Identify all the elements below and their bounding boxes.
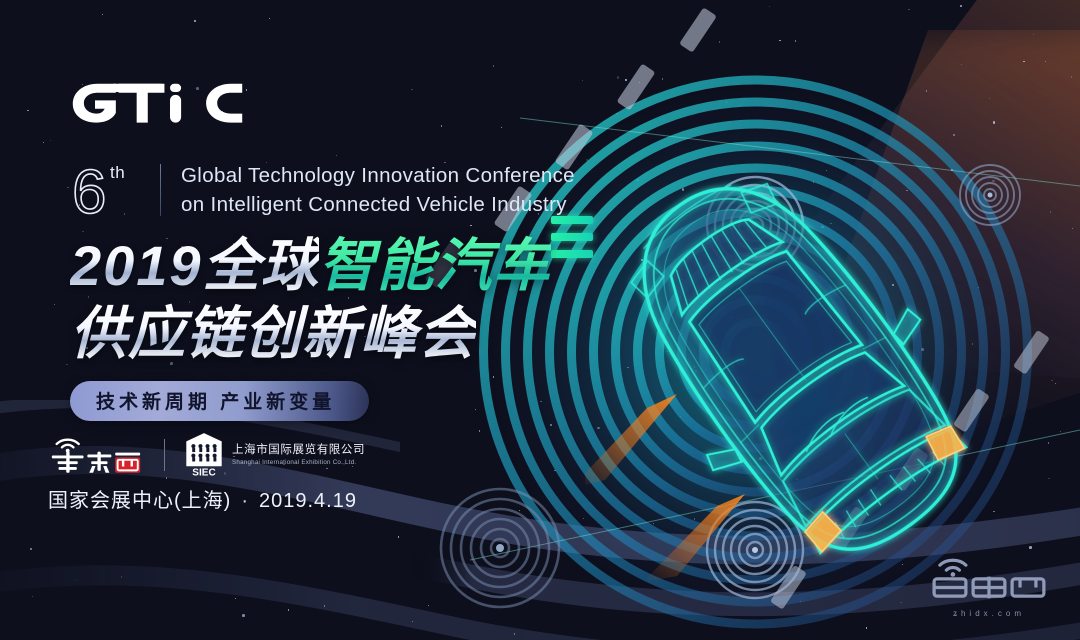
star-dot [30, 548, 31, 549]
star-dot [1051, 380, 1052, 381]
star-dot [992, 180, 995, 183]
star-dot [639, 82, 640, 83]
edition-number: 6 [72, 159, 106, 221]
star-dot [769, 6, 770, 7]
star-dot [658, 347, 659, 348]
star-dot [972, 343, 973, 344]
star-dot [951, 169, 952, 170]
warm-light-wedge-secondary [760, 30, 1080, 500]
star-dot [1048, 442, 1049, 443]
star-dot [550, 424, 551, 425]
star-dot [888, 330, 889, 331]
star-dot [428, 605, 429, 606]
star-dot [921, 348, 924, 351]
edition-badge: 6 th [70, 159, 124, 221]
english-title: Global Technology Innovation Conference … [181, 161, 575, 219]
partner-logos: SIEC 上海市国际展览有限公司 Shanghai International … [48, 432, 365, 478]
star-dot [989, 98, 990, 99]
warm-light-wedge [635, 0, 1080, 455]
star-dot [398, 536, 399, 537]
star-dot [698, 272, 699, 273]
star-dot [1060, 431, 1061, 432]
star-dot [758, 399, 759, 400]
headline-year: 2019 [70, 234, 203, 297]
venue-date-separator: · [241, 490, 249, 512]
star-dot [949, 471, 950, 472]
star-dot [1048, 478, 1049, 479]
star-dot [772, 531, 773, 532]
star-dot [768, 579, 769, 580]
star-dot [583, 518, 584, 519]
headline-line-2: 供应链创新峰会 [70, 303, 630, 365]
siec-mark-icon: SIEC [185, 432, 223, 478]
star-dot [759, 457, 762, 460]
star-dot [892, 284, 893, 285]
gtic-logo [70, 74, 278, 124]
star-dot [54, 304, 55, 305]
star-dot [978, 287, 979, 288]
star-dot [719, 41, 720, 42]
star-dot [789, 165, 790, 166]
edition-number-icon: 6 [70, 159, 114, 221]
star-dot [900, 602, 901, 603]
star-dot [953, 134, 954, 135]
star-dot [921, 477, 924, 480]
star-dot [66, 364, 67, 365]
star-dot [723, 205, 724, 206]
star-dot [926, 90, 927, 91]
star-dot [961, 64, 962, 65]
star-dot [1050, 211, 1051, 212]
star-dot [324, 605, 325, 606]
star-dot [1033, 34, 1034, 35]
headline-intelligent-vehicle: 智能汽车 [319, 234, 551, 298]
poster-content: 6 th Global Technology Innovation Confer… [70, 74, 630, 421]
edition-suffix: th [110, 163, 125, 183]
star-dot [67, 187, 68, 188]
star-dot [641, 259, 642, 260]
star-dot [682, 188, 685, 191]
star-dot [412, 621, 413, 622]
star-dot [269, 18, 270, 19]
venue-and-date: 国家会展中心(上海)·2019.4.19 [48, 484, 357, 513]
siec-text-block: 上海市国际展览有限公司 Shanghai International Exhib… [232, 444, 365, 466]
star-dot [1023, 61, 1024, 62]
star-dot [726, 101, 727, 102]
headline-global: 全球 [203, 234, 319, 298]
star-dot [906, 190, 907, 191]
car-top-view-icon [585, 150, 1005, 580]
star-dot [680, 416, 681, 417]
siec-name-cn: 上海市国际展览有限公司 [232, 444, 365, 457]
star-dot [834, 526, 835, 527]
star-dot [235, 598, 236, 599]
siec-name-en: Shanghai International Exhibition Co.,Lt… [232, 459, 365, 466]
star-dot [288, 609, 289, 610]
siec-logo: SIEC 上海市国际展览有限公司 Shanghai International … [185, 432, 365, 478]
star-dot [730, 316, 731, 317]
star-dot [27, 110, 28, 111]
event-date: 2019.4.19 [259, 490, 357, 512]
star-dot [242, 614, 245, 617]
star-dot [695, 370, 696, 371]
star-dot [1045, 61, 1046, 62]
star-dot [779, 40, 780, 41]
zhidx-logo-icon [924, 555, 1054, 603]
star-dot [32, 596, 33, 597]
radar-bullseye-icon [430, 478, 570, 618]
star-dot [821, 226, 824, 229]
star-dot [493, 65, 494, 66]
star-dot [519, 510, 520, 511]
star-dot [653, 523, 654, 524]
star-dot [121, 576, 122, 577]
conference-poster: 6 th Global Technology Innovation Confer… [0, 0, 1080, 640]
wifi-arc-icon [57, 440, 79, 448]
english-title-line1: Global Technology Innovation Conference [181, 161, 575, 190]
english-title-line2: on Intelligent Connected Vehicle Industr… [181, 190, 575, 219]
star-dot [960, 5, 963, 8]
star-dot [795, 40, 796, 41]
venue-name: 国家会展中心(上海) [48, 490, 231, 512]
zhidx-watermark: zhidx.com [924, 555, 1054, 618]
star-dot [902, 564, 903, 565]
siec-abbr: SIEC [192, 468, 215, 478]
main-headline: 2019全球智能汽车 供应链创新峰会 [70, 235, 630, 365]
star-dot [993, 121, 996, 124]
star-dot [1072, 228, 1073, 229]
star-dot [830, 223, 831, 224]
star-dot [102, 14, 103, 15]
star-dot [813, 181, 814, 182]
chedongxi-logo [48, 434, 144, 476]
star-dot [908, 9, 909, 10]
star-dot [554, 470, 555, 471]
star-dot [637, 179, 638, 180]
star-dot [993, 511, 994, 512]
headline-line-1: 2019全球智能汽车 [70, 235, 630, 297]
star-dot [1071, 76, 1072, 77]
star-dot [796, 479, 797, 480]
star-dot [514, 633, 515, 634]
star-dot [1029, 546, 1032, 549]
star-dot [667, 351, 668, 352]
star-dot [75, 579, 76, 580]
star-dot [694, 366, 695, 367]
star-dot [694, 518, 695, 519]
star-dot [479, 430, 480, 431]
star-dot [866, 627, 867, 628]
subtitle-pill: 技术新周期 产业新变量 [70, 381, 369, 421]
zhidx-url: zhidx.com [924, 609, 1054, 618]
star-dot [50, 140, 51, 141]
headline-supply-chain: 供应链创新峰会 [70, 302, 476, 366]
radar-bullseye-icon [700, 170, 810, 280]
logo-separator [164, 439, 165, 471]
radar-bullseye-icon [700, 495, 810, 605]
star-dot [1055, 383, 1056, 384]
edition-and-english-title: 6 th Global Technology Innovation Confer… [70, 159, 630, 221]
star-dot [662, 78, 663, 79]
star-dot [194, 20, 195, 21]
star-dot [826, 170, 827, 171]
star-dot [597, 427, 600, 430]
star-dot [43, 142, 44, 143]
title-divider [160, 164, 161, 216]
star-dot [764, 405, 765, 406]
star-dot [800, 601, 801, 602]
radar-bullseye-icon [950, 155, 1030, 235]
